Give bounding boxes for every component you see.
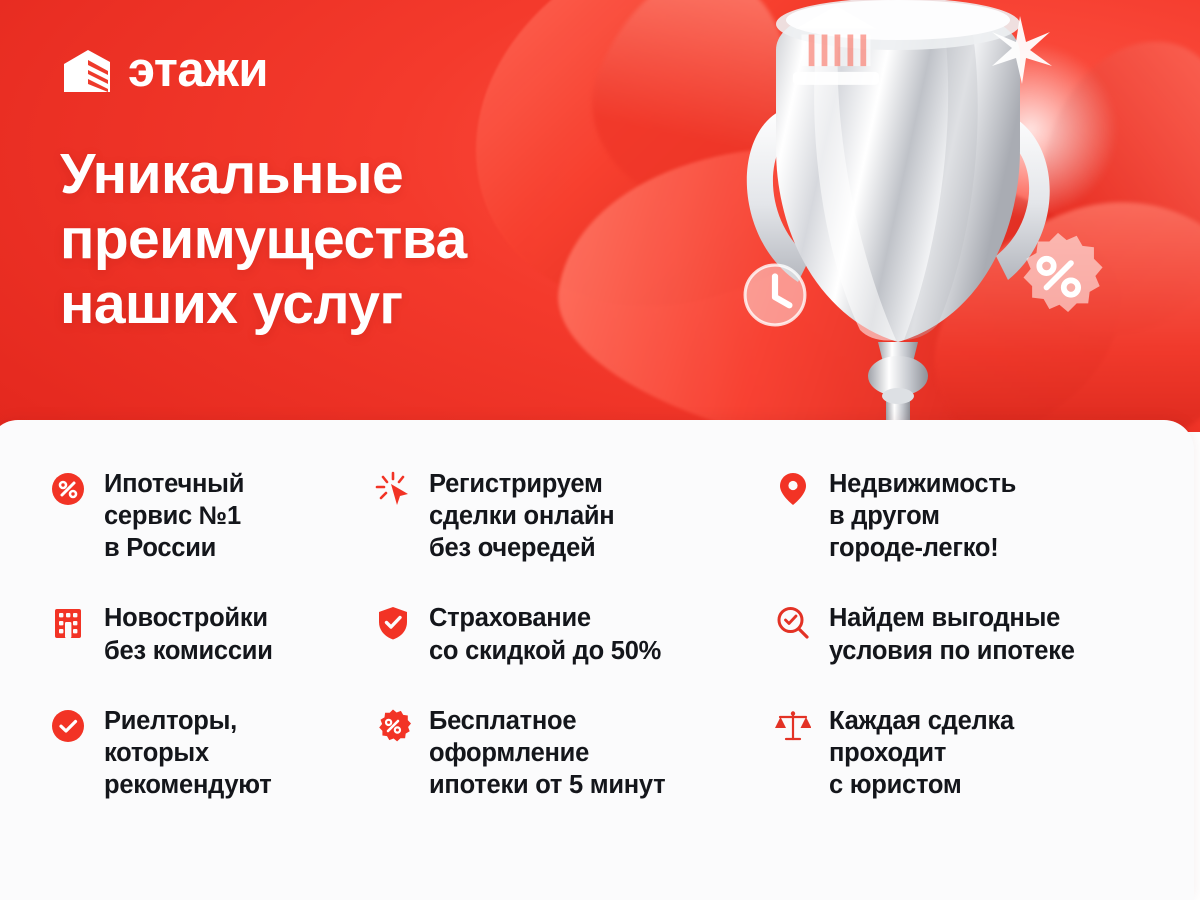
benefit-item: Страхование со скидкой до 50% bbox=[375, 602, 775, 666]
cursor-click-icon bbox=[375, 471, 411, 507]
benefit-item: Ипотечный сервис №1 в России bbox=[50, 468, 375, 564]
benefit-label: Ипотечный сервис №1 в России bbox=[104, 468, 244, 564]
headline-line-1: Уникальные bbox=[60, 142, 467, 207]
headline-line-3: наших услуг bbox=[60, 272, 467, 337]
benefit-label: Риелторы, которых рекомендуют bbox=[104, 705, 271, 801]
trophy-3d-icon bbox=[690, 0, 1190, 432]
map-pin-icon bbox=[775, 471, 811, 507]
clock-glass-icon bbox=[742, 262, 808, 328]
benefit-item: Регистрируем сделки онлайн без очередей bbox=[375, 468, 775, 564]
headline-line-2: преимущества bbox=[60, 207, 467, 272]
percent-circle-icon bbox=[50, 471, 86, 507]
building-icon bbox=[50, 605, 86, 641]
hero-banner: этажи Уникальные преимущества наших услу… bbox=[0, 0, 1200, 432]
benefit-label: Страхование со скидкой до 50% bbox=[429, 602, 661, 666]
scales-justice-icon bbox=[775, 708, 811, 744]
benefit-label: Бесплатное оформление ипотеки от 5 минут bbox=[429, 705, 665, 801]
benefit-item: Каждая сделка проходит с юристом bbox=[775, 705, 1150, 801]
benefit-item: Новостройки без комиссии bbox=[50, 602, 375, 666]
benefit-label: Каждая сделка проходит с юристом bbox=[829, 705, 1014, 801]
bank-columns-glass-icon bbox=[790, 0, 882, 92]
shield-check-icon bbox=[375, 605, 411, 641]
percent-badge-glass-icon bbox=[1012, 230, 1104, 322]
trophy-illustration bbox=[690, 0, 1190, 432]
magnifier-check-icon bbox=[775, 605, 811, 641]
building-logo-icon bbox=[62, 48, 112, 94]
check-circle-icon bbox=[50, 708, 86, 744]
benefit-item: Недвижимость в другом городе-легко! bbox=[775, 468, 1150, 564]
benefit-item: Бесплатное оформление ипотеки от 5 минут bbox=[375, 705, 775, 801]
benefits-grid: Ипотечный сервис №1 в России Регистрируе… bbox=[50, 468, 1150, 801]
brand-logo[interactable]: этажи bbox=[62, 46, 268, 95]
page-title: Уникальные преимущества наших услуг bbox=[60, 142, 467, 337]
benefit-label: Недвижимость в другом городе-легко! bbox=[829, 468, 1016, 564]
benefit-label: Найдем выгодные условия по ипотеке bbox=[829, 602, 1075, 666]
benefit-label: Новостройки без комиссии bbox=[104, 602, 273, 666]
benefit-item: Найдем выгодные условия по ипотеке bbox=[775, 602, 1150, 666]
benefit-label: Регистрируем сделки онлайн без очередей bbox=[429, 468, 614, 564]
benefits-card: Ипотечный сервис №1 в России Регистрируе… bbox=[0, 420, 1194, 900]
percent-badge-icon bbox=[375, 708, 411, 744]
brand-name: этажи bbox=[128, 46, 268, 95]
benefit-item: Риелторы, которых рекомендуют bbox=[50, 705, 375, 801]
